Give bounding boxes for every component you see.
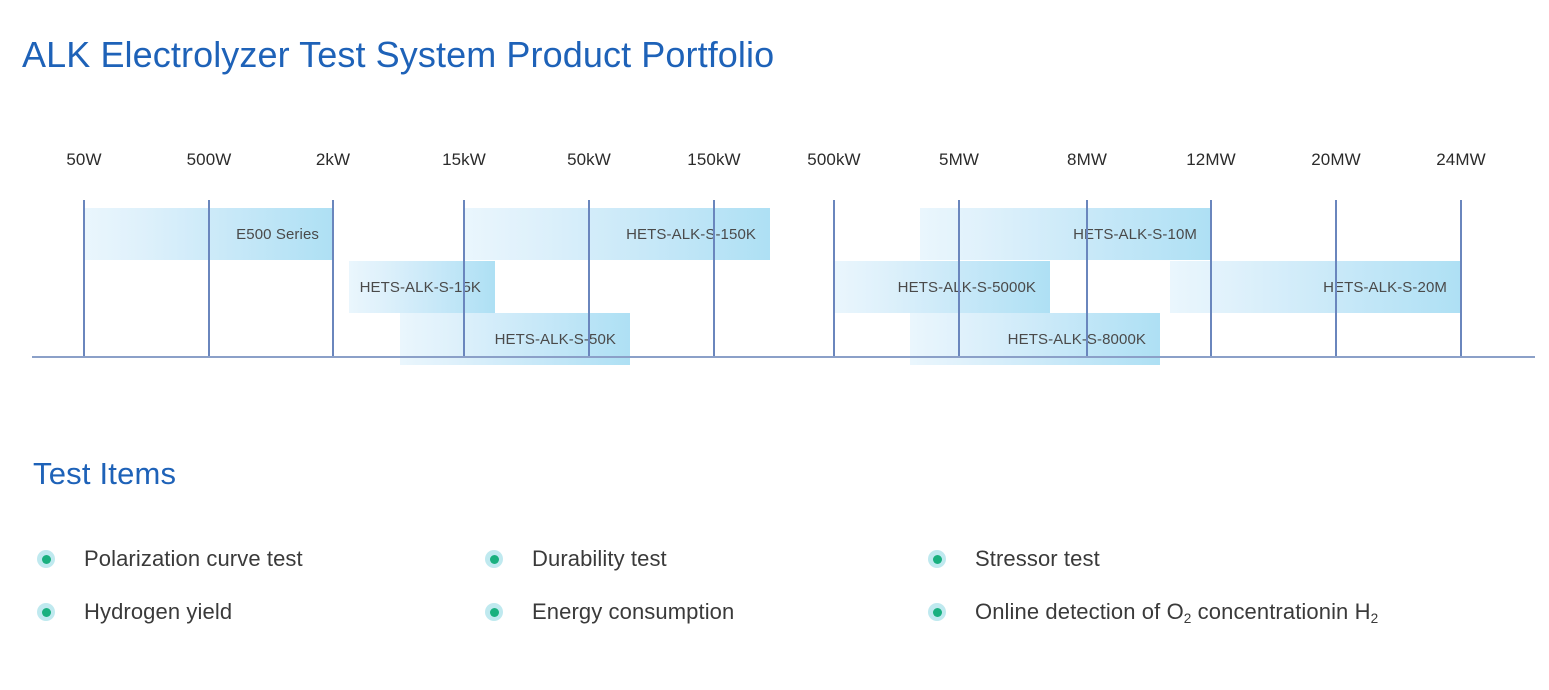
axis-tick-label-50kw: 50kW <box>567 150 611 170</box>
test-item-stressor-test: Stressor test <box>928 546 1100 572</box>
axis-tick-label-500w: 500W <box>187 150 232 170</box>
test-item-label: Stressor test <box>975 546 1100 572</box>
bar-label: HETS-ALK-S-50K <box>495 331 616 348</box>
bullet-icon <box>37 603 55 621</box>
o2-text-mid: concentrationin H <box>1191 599 1370 624</box>
axis-tick-label-20mw: 20MW <box>1311 150 1361 170</box>
bullet-icon <box>485 603 503 621</box>
axis-tick-label-150kw: 150kW <box>687 150 740 170</box>
axis-tick-line-500kw <box>833 200 835 356</box>
bar-label: HETS-ALK-S-5000K <box>898 279 1036 296</box>
page-title: ALK Electrolyzer Test System Product Por… <box>22 34 774 76</box>
axis-tick-label-12mw: 12MW <box>1186 150 1236 170</box>
test-item-hydrogen-yield: Hydrogen yield <box>37 599 232 625</box>
bar-hets-alk-s-5000k: HETS-ALK-S-5000K <box>834 261 1050 313</box>
axis-tick-line-150kw <box>713 200 715 356</box>
bullet-icon <box>928 550 946 568</box>
axis-tick-label-8mw: 8MW <box>1067 150 1107 170</box>
axis-tick-line-12mw <box>1210 200 1212 356</box>
axis-tick-line-15kw <box>463 200 465 356</box>
bar-label: HETS-ALK-S-8000K <box>1008 331 1146 348</box>
test-item-label: Energy consumption <box>532 599 734 625</box>
axis-tick-line-500w <box>208 200 210 356</box>
bar-label: HETS-ALK-S-10M <box>1073 226 1197 243</box>
axis-tick-label-24mw: 24MW <box>1436 150 1486 170</box>
o2-subscript: 2 <box>1184 611 1192 626</box>
bullet-icon <box>485 550 503 568</box>
axis-tick-label-5mw: 5MW <box>939 150 979 170</box>
axis-tick-line-24mw <box>1460 200 1462 356</box>
o2-text-pre: Online detection of O <box>975 599 1184 624</box>
axis-tick-line-50kw <box>588 200 590 356</box>
axis-tick-label-50w: 50W <box>66 150 101 170</box>
axis-baseline <box>32 356 1535 358</box>
axis-tick-label-15kw: 15kW <box>442 150 486 170</box>
test-item-label: Hydrogen yield <box>84 599 232 625</box>
h2-subscript: 2 <box>1371 611 1379 626</box>
test-item-polarization-curve-test: Polarization curve test <box>37 546 303 572</box>
axis-tick-line-50w <box>83 200 85 356</box>
bar-label: HETS-ALK-S-150K <box>626 226 756 243</box>
axis-tick-line-5mw <box>958 200 960 356</box>
bar-label: HETS-ALK-S-20M <box>1323 279 1447 296</box>
bar-hets-alk-s-15k: HETS-ALK-S-15K <box>349 261 495 313</box>
bullet-icon <box>928 603 946 621</box>
bar-label: E500 Series <box>236 226 319 243</box>
test-item-label: Online detection of O2 concentrationin H… <box>975 599 1378 625</box>
test-item-label: Durability test <box>532 546 667 572</box>
axis-tick-line-8mw <box>1086 200 1088 356</box>
bar-hets-alk-s-10m: HETS-ALK-S-10M <box>920 208 1211 260</box>
axis-tick-label-500kw: 500kW <box>807 150 860 170</box>
axis-tick-label-2kw: 2kW <box>316 150 350 170</box>
test-item-energy-consumption: Energy consumption <box>485 599 734 625</box>
bar-hets-alk-s-20m: HETS-ALK-S-20M <box>1170 261 1461 313</box>
test-items-heading: Test Items <box>33 456 176 492</box>
test-item-online-o2-detection: Online detection of O2 concentrationin H… <box>928 599 1378 625</box>
axis-tick-line-2kw <box>332 200 334 356</box>
product-portfolio-chart: 50W 500W 2kW 15kW 50kW 150kW 500kW 5MW 8… <box>0 150 1549 365</box>
bar-hets-alk-s-150k: HETS-ALK-S-150K <box>464 208 770 260</box>
test-item-label: Polarization curve test <box>84 546 303 572</box>
bullet-icon <box>37 550 55 568</box>
test-item-durability-test: Durability test <box>485 546 667 572</box>
axis-tick-line-20mw <box>1335 200 1337 356</box>
